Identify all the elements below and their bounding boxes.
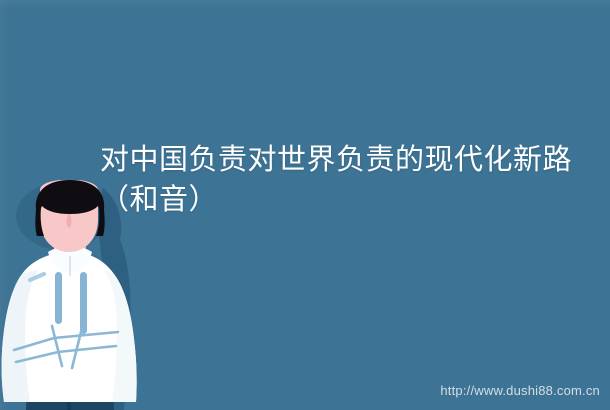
- page-title: 对中国负责对世界负责的现代化新路（和音）: [100, 140, 590, 220]
- watermark-url: http://www.dushi88.com.cn: [440, 383, 600, 398]
- image-canvas: 对中国负责对世界负责的现代化新路（和音） http://www.dushi88.…: [0, 0, 610, 410]
